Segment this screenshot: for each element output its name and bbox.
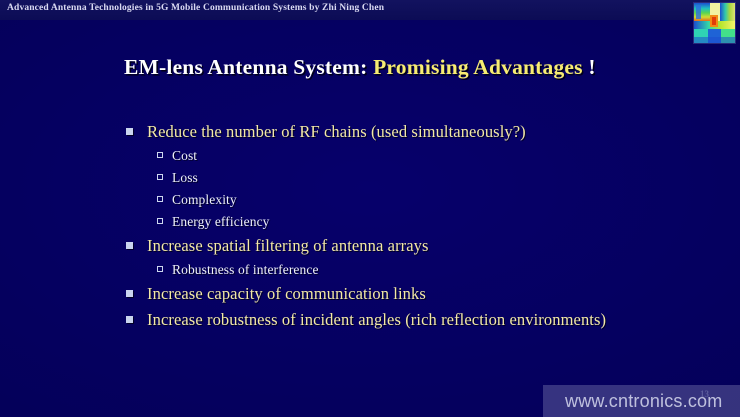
sub-bullet-item: Energy efficiency [122,211,632,233]
sub-bullet-item: Loss [122,167,632,189]
presentation-slide: Advanced Antenna Technologies in 5G Mobi… [0,0,740,417]
sub-bullet-text: Complexity [172,192,237,207]
filled-square-bullet-icon [126,128,133,135]
sub-bullet-item: Complexity [122,189,632,211]
sub-bullet-text: Loss [172,170,198,185]
slide-title-lead: EM-lens Antenna System: [124,55,368,79]
sub-bullet-item: Robustness of interference [122,259,632,281]
slide-title: EM-lens Antenna System: Promising Advant… [124,55,596,80]
hollow-square-bullet-icon [157,152,163,158]
sub-bullet-text: Robustness of interference [172,262,319,277]
presentation-header-title: Advanced Antenna Technologies in 5G Mobi… [7,3,384,13]
hollow-square-bullet-icon [157,218,163,224]
bullet-item: Increase capacity of communication links [122,281,632,306]
hollow-square-bullet-icon [157,196,163,202]
bullet-text: Reduce the number of RF chains (used sim… [147,122,526,141]
bullet-text: Increase spatial filtering of antenna ar… [147,236,429,255]
filled-square-bullet-icon [126,242,133,249]
bullet-text: Increase robustness of incident angles (… [147,310,606,329]
hollow-square-bullet-icon [157,266,163,272]
slide-bullet-list: Reduce the number of RF chains (used sim… [122,119,632,333]
slide-title-highlight: Promising Advantages [373,55,583,79]
field-plot-thumbnail-icon [693,2,736,44]
filled-square-bullet-icon [126,290,133,297]
slide-title-trail: ! [588,55,595,79]
bullet-item: Increase spatial filtering of antenna ar… [122,233,632,258]
bullet-text: Increase capacity of communication links [147,284,426,303]
watermark-text: www.cntronics.com [565,391,722,412]
sub-bullet-text: Energy efficiency [172,214,270,229]
sub-bullet-list: Cost Loss Complexity Energy efficiency [122,145,632,233]
sub-bullet-item: Cost [122,145,632,167]
filled-square-bullet-icon [126,316,133,323]
bullet-item: Increase robustness of incident angles (… [122,307,632,332]
sub-bullet-list: Robustness of interference [122,259,632,281]
hollow-square-bullet-icon [157,174,163,180]
field-colormap-graphic [694,3,735,43]
bullet-item: Reduce the number of RF chains (used sim… [122,119,632,144]
sub-bullet-text: Cost [172,148,197,163]
